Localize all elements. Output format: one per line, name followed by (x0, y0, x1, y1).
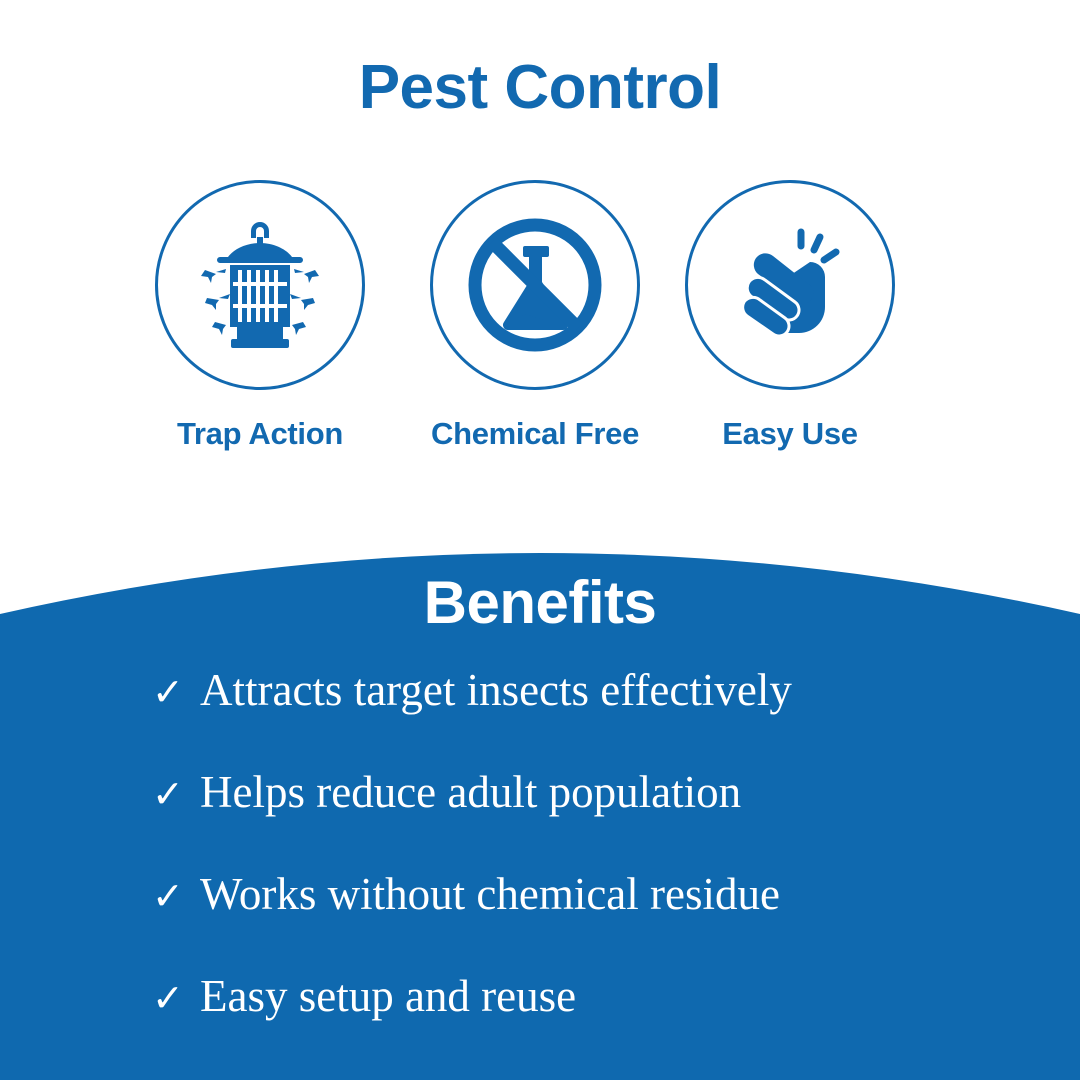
check-icon: ✓ (152, 775, 200, 813)
benefit-list-item: ✓ Helps reduce adult population (152, 770, 1032, 872)
benefit-text: Helps reduce adult population (200, 770, 741, 815)
benefit-text: Attracts target insects effectively (200, 668, 792, 713)
check-icon: ✓ (152, 979, 200, 1017)
benefit-text: Easy setup and reuse (200, 974, 576, 1019)
benefit-list-item: ✓ Works without chemical residue (152, 872, 1032, 974)
benefits-title: Benefits (0, 568, 1080, 637)
pest-control-infographic: Pest Control (0, 0, 1080, 1080)
benefits-section: Benefits ✓ Attracts target insects effec… (0, 0, 1080, 1080)
benefit-list-item: ✓ Easy setup and reuse (152, 974, 1032, 1076)
benefit-text: Works without chemical residue (200, 872, 780, 917)
check-icon: ✓ (152, 877, 200, 915)
benefit-list-item: ✓ Attracts target insects effectively (152, 668, 1032, 770)
benefits-list: ✓ Attracts target insects effectively ✓ … (152, 668, 1032, 1076)
check-icon: ✓ (152, 673, 200, 711)
